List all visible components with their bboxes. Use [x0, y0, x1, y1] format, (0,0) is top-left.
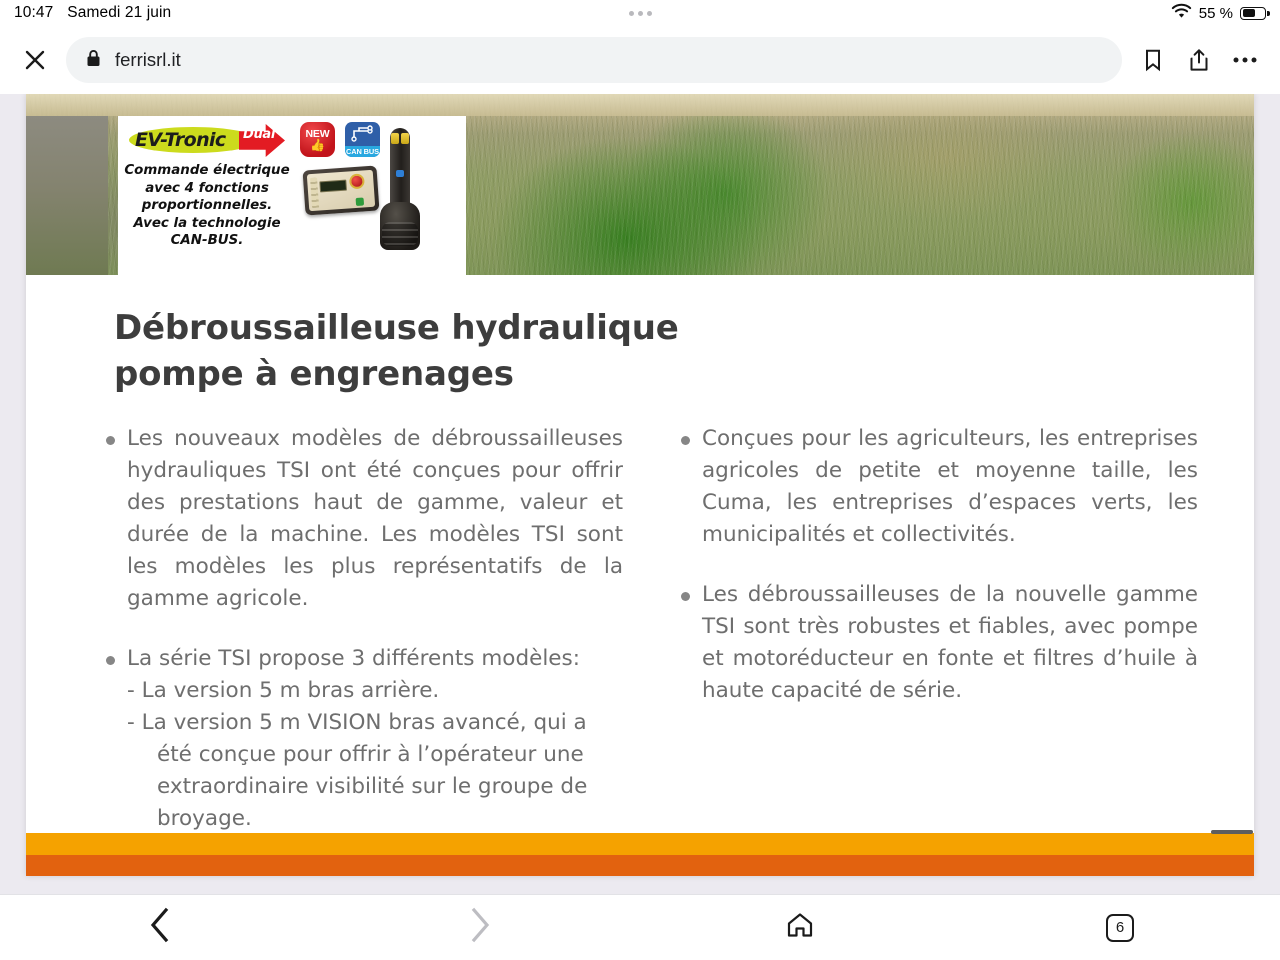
more-options-icon[interactable] — [1222, 37, 1268, 83]
footer-color-bars — [26, 833, 1254, 876]
joystick-yellow-button-2 — [401, 133, 409, 144]
screen: 10:47 Samedi 21 juin 55 % — [0, 0, 1280, 960]
joystick-image — [380, 128, 420, 250]
browser-toolbar: ferrisrl.it — [0, 26, 1280, 94]
status-bar: 10:47 Samedi 21 juin 55 % — [0, 0, 1280, 26]
canbus-badge: CAN BUS — [345, 122, 380, 157]
page-content: EV-Tronic Dual Commande électrique avec … — [26, 94, 1254, 876]
article-body: Débroussailleuse hydraulique pompe à eng… — [26, 275, 1254, 894]
tagline-line-5: CAN-BUS. — [124, 232, 290, 250]
bullet-item: Conçues pour les agriculteurs, les entre… — [657, 423, 1198, 551]
ev-tronic-logo: EV-Tronic Dual — [125, 124, 289, 157]
back-arrow-icon — [149, 907, 171, 948]
bullet-text: Les débroussailleuses de la nouvelle gam… — [702, 579, 1198, 707]
left-column: Les nouveaux modèles de débroussailleuse… — [82, 423, 623, 894]
bottom-navigation-bar: 6 — [0, 894, 1280, 960]
tab-count-badge: 6 — [1106, 914, 1134, 942]
tagline-line-4: Avec la technologie — [124, 215, 290, 233]
grass-top-strip — [26, 94, 1254, 116]
tagline-line-3: proportionnelles. — [124, 197, 290, 215]
home-button[interactable] — [640, 911, 960, 944]
url-text: ferrisrl.it — [115, 49, 181, 71]
panel-green-button — [356, 197, 365, 206]
back-button[interactable] — [0, 907, 320, 948]
panel-display — [319, 180, 347, 193]
hero-photo: EV-Tronic Dual Commande électrique avec … — [26, 94, 1254, 275]
canbus-badge-label: CAN BUS — [345, 146, 380, 157]
footer-bar-orange — [26, 855, 1254, 876]
bookmark-icon[interactable] — [1130, 37, 1176, 83]
page-viewport[interactable]: EV-Tronic Dual Commande électrique avec … — [0, 94, 1280, 894]
tab-switcher-button[interactable]: 6 — [960, 914, 1280, 942]
bullet-item: Les nouveaux modèles de débroussailleuse… — [82, 423, 623, 615]
bullet-item: Les débroussailleuses de la nouvelle gam… — [657, 579, 1198, 707]
forward-arrow-icon — [469, 907, 491, 948]
joystick-yellow-button-1 — [391, 133, 399, 144]
bullet-dot-icon — [681, 592, 690, 601]
bullet-dot-icon — [681, 436, 690, 445]
page-scrollbar[interactable] — [1211, 830, 1253, 834]
bullet-dot-icon — [106, 436, 115, 445]
tagline-line-2: avec 4 fonctions — [124, 180, 290, 198]
status-time: 10:47 — [14, 4, 53, 22]
share-icon[interactable] — [1176, 37, 1222, 83]
logo-dual-badge: Dual — [239, 127, 279, 143]
lock-icon — [86, 49, 101, 72]
page-title-line-1: Débroussailleuse hydraulique — [114, 308, 679, 348]
status-date: Samedi 21 juin — [67, 4, 171, 22]
bullet-dot-icon — [106, 656, 115, 665]
grass-left-block — [26, 116, 108, 275]
address-bar[interactable]: ferrisrl.it — [66, 37, 1122, 83]
forward-button[interactable] — [320, 907, 640, 948]
battery-percent: 55 % — [1199, 5, 1233, 22]
new-badge: NEW 👍 — [300, 122, 335, 157]
status-center-dots — [0, 0, 1280, 26]
thumbs-up-icon: 👍 — [310, 139, 325, 151]
wifi-icon — [1171, 3, 1192, 24]
bullet-text: Les nouveaux modèles de débroussailleuse… — [127, 423, 623, 615]
tagline-line-1: Commande électrique — [124, 162, 290, 180]
network-diagram-icon — [345, 124, 380, 144]
home-icon — [786, 911, 814, 944]
sublist-item: - La version 5 m bras arrière. — [127, 675, 623, 707]
bullet-intro-text: La série TSI propose 3 différents modèle… — [127, 646, 580, 671]
page-title-line-2: pompe à engrenages — [114, 354, 514, 394]
banner-text-block: EV-Tronic Dual Commande électrique avec … — [118, 116, 294, 275]
sublist-item: - La version 5 m VISION bras avancé, qui… — [127, 707, 623, 835]
page-title: Débroussailleuse hydraulique pompe à eng… — [26, 305, 1254, 397]
close-icon[interactable] — [12, 37, 58, 83]
banner-tagline: Commande électrique avec 4 fonctions pro… — [124, 162, 290, 250]
bullet-text: Conçues pour les agriculteurs, les entre… — [702, 423, 1198, 551]
joystick-rings — [382, 222, 418, 246]
control-panel-image — [303, 165, 380, 215]
banner-badges: NEW 👍 CA — [300, 122, 380, 157]
battery-icon — [1240, 7, 1266, 20]
ev-tronic-banner: EV-Tronic Dual Commande électrique avec … — [118, 116, 466, 275]
footer-bar-amber — [26, 833, 1254, 855]
joystick-blue-button — [396, 170, 404, 177]
camera-indicator-dots — [629, 11, 652, 16]
content-columns: Les nouveaux modèles de débroussailleuse… — [26, 397, 1254, 894]
right-column: Conçues pour les agriculteurs, les entre… — [657, 423, 1198, 894]
banner-image-block: NEW 👍 CA — [294, 116, 466, 275]
